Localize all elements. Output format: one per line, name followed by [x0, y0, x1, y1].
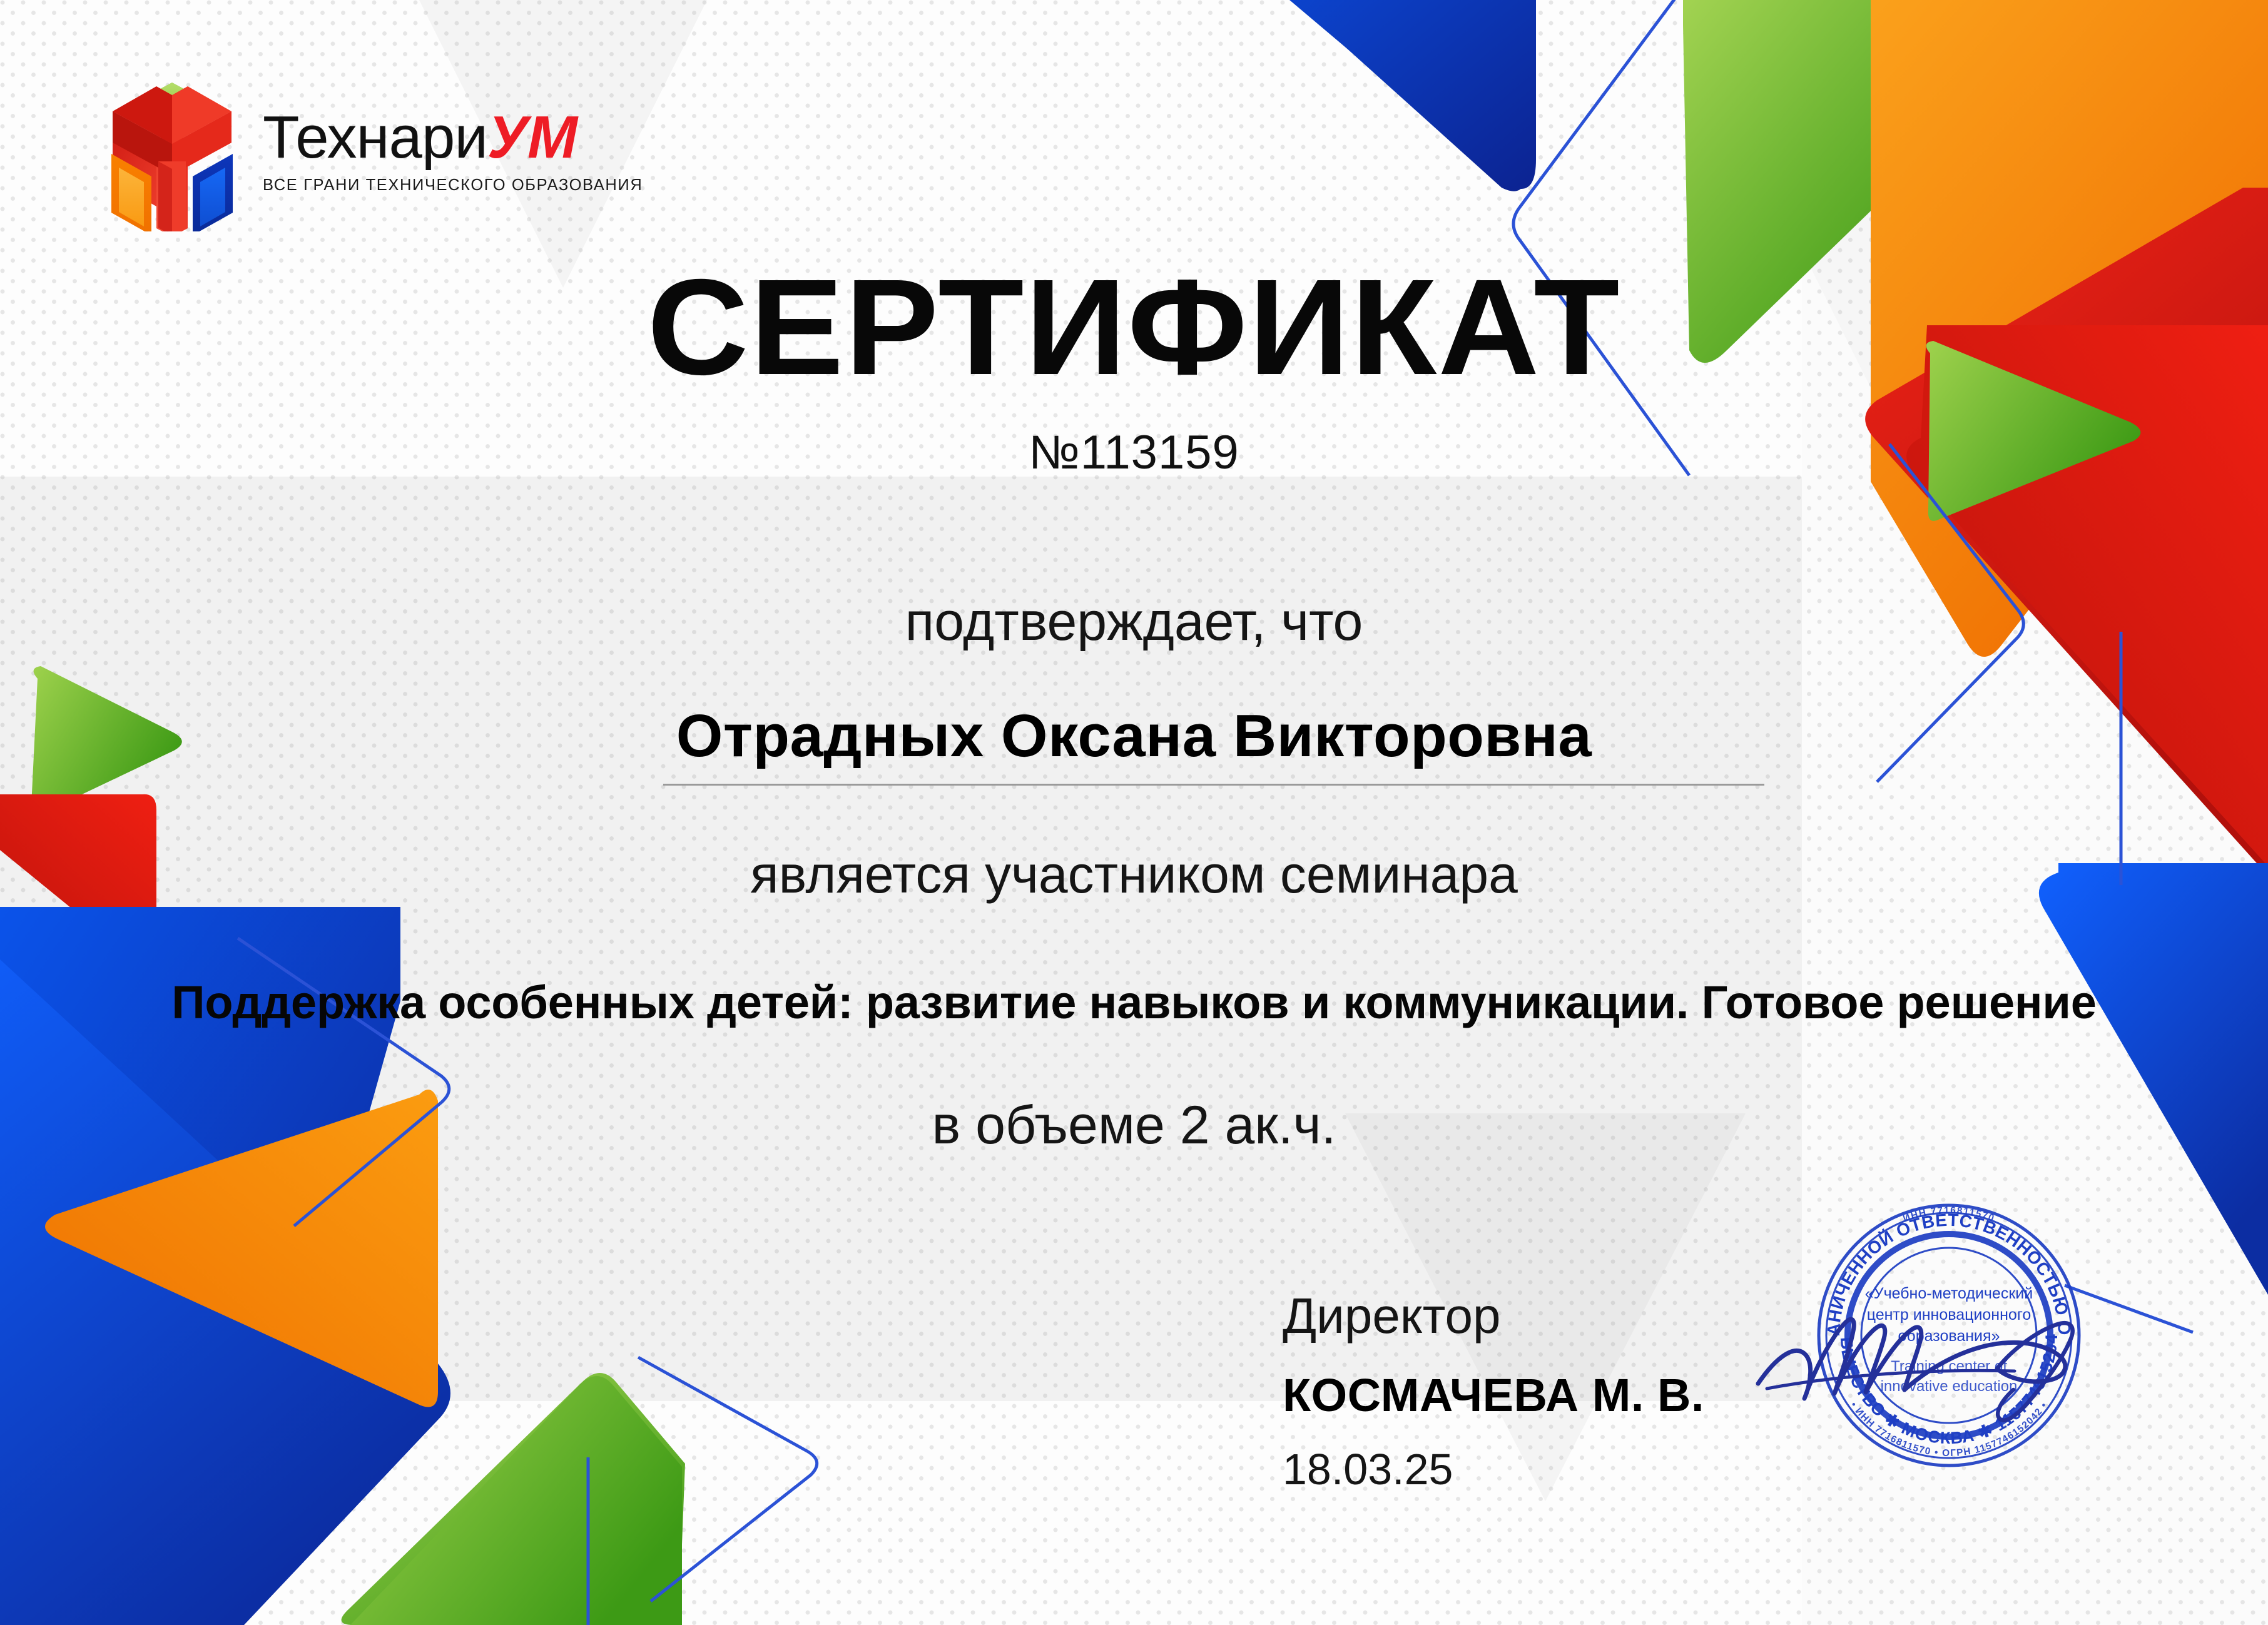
- director-role-label: Директор: [1283, 1288, 1733, 1344]
- handwritten-signature: [1752, 1276, 2140, 1439]
- signature-block: Директор КОСМАЧЕВА М. В. 18.03.25: [1283, 1288, 1733, 1494]
- recipient-underline: [663, 784, 1764, 786]
- confirmation-line: подтверждает, что: [0, 591, 2268, 653]
- recipient-name: Отрадных Оксана Викторовна: [0, 702, 2268, 771]
- issue-date: 18.03.25: [1283, 1444, 1733, 1494]
- page-title: СЕРТИФИКАТ: [0, 260, 2268, 396]
- participation-line: является участником семинара: [0, 844, 2268, 905]
- certificate-number: №113159: [0, 425, 2268, 480]
- certificate-canvas: ТехнариУМ ВСЕ ГРАНИ ТЕХНИЧЕСКОГО ОБРАЗОВ…: [0, 0, 2268, 1625]
- program-title: Поддержка особенных детей: развитие навы…: [0, 976, 2268, 1029]
- volume-line: в объеме 2 ак.ч.: [0, 1095, 2268, 1157]
- director-name: КОСМАЧЕВА М. В.: [1283, 1369, 1733, 1422]
